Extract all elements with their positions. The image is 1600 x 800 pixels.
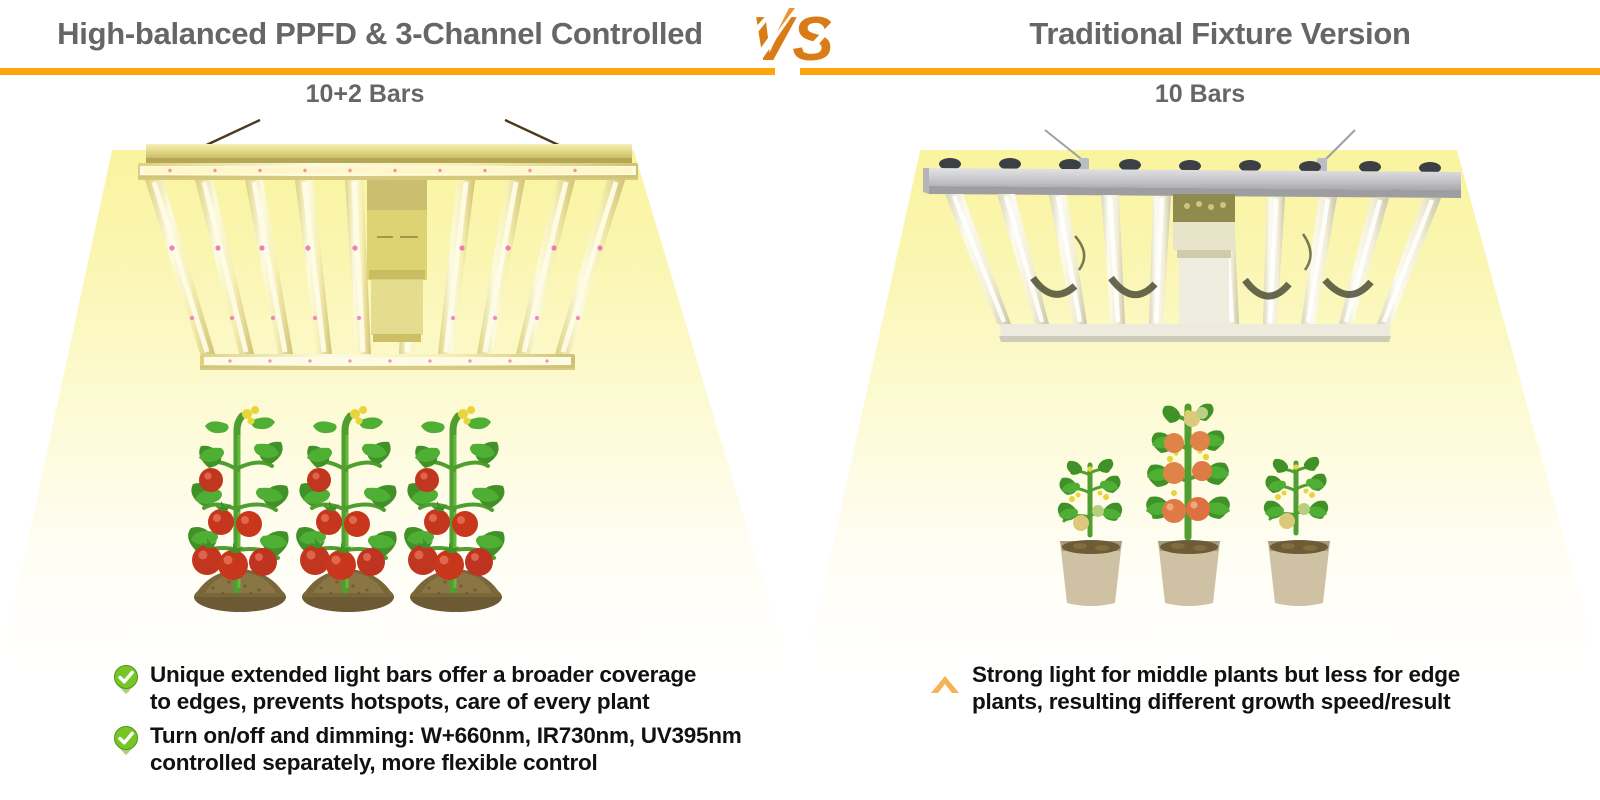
led-fixture-right <box>915 128 1475 363</box>
benefits-list-left: Unique extended light bars offer a broad… <box>112 662 792 784</box>
tomato-plant <box>188 406 289 612</box>
tomato-plant <box>404 406 505 612</box>
comparison-infographic: High-balanced PPFD & 3-Channel Controlle… <box>0 0 1600 800</box>
list-item: Strong light for middle plants but less … <box>928 662 1548 715</box>
divider-rule-right <box>800 68 1600 75</box>
potted-plant-small-right <box>1264 457 1330 606</box>
list-item: Unique extended light bars offer a broad… <box>112 662 792 715</box>
potted-plant-small-left <box>1058 459 1122 606</box>
subtitle-right: 10 Bars <box>840 80 1560 109</box>
page-title-left: High-balanced PPFD & 3-Channel Controlle… <box>0 16 760 52</box>
driver-box-left <box>367 180 427 342</box>
list-item: Turn on/off and dimming: W+660nm, IR730n… <box>112 723 792 776</box>
extended-bar-top <box>138 163 638 180</box>
list-item-text: Strong light for middle plants but less … <box>972 662 1460 715</box>
page-title-right: Traditional Fixture Version <box>840 16 1600 52</box>
hanger-wires-right <box>1045 130 1355 162</box>
green-check-icon <box>112 664 140 694</box>
list-item-text: Unique extended light bars offer a broad… <box>150 662 696 715</box>
orange-caret-up-icon <box>928 664 962 696</box>
driver-box-right <box>1173 194 1235 342</box>
plants-left-group <box>185 390 585 615</box>
led-fixture-left <box>110 118 660 383</box>
hanger-cables-left <box>200 120 565 148</box>
potted-plant-tall-middle <box>1146 404 1230 606</box>
plants-right-group <box>1050 355 1350 615</box>
divider-rule-left <box>0 68 775 75</box>
subtitle-left: 10+2 Bars <box>0 80 730 109</box>
drawbacks-list-right: Strong light for middle plants but less … <box>928 662 1548 723</box>
green-check-icon <box>112 725 140 755</box>
vs-badge-icon: VS <box>733 4 865 76</box>
list-item-text: Turn on/off and dimming: W+660nm, IR730n… <box>150 723 742 776</box>
extended-bar-bottom <box>200 354 575 370</box>
tomato-plant <box>296 406 397 612</box>
